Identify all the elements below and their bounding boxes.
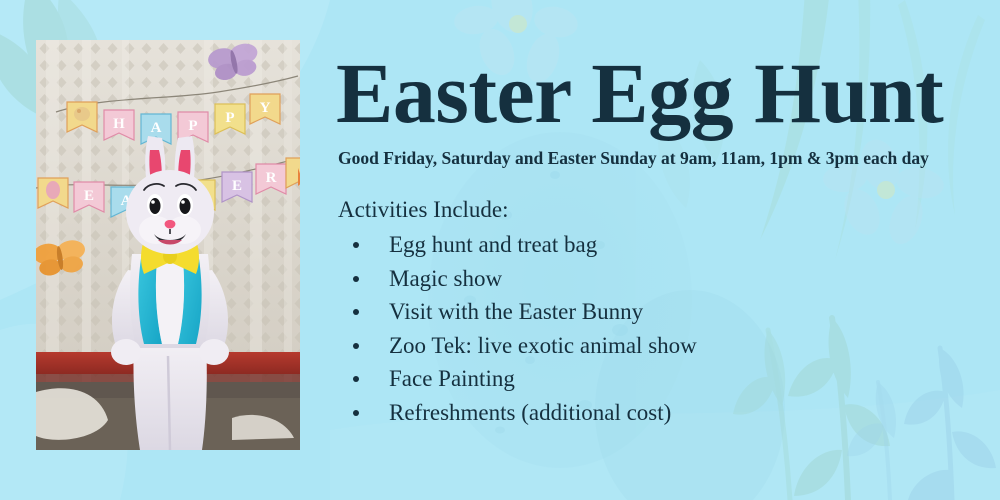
list-item: Zoo Tek: live exotic animal show [352, 329, 697, 363]
list-item: Face Painting [352, 362, 697, 396]
event-schedule-subtitle: Good Friday, Saturday and Easter Sunday … [338, 148, 929, 169]
easter-egg-hunt-banner: H A P P Y E A S T E R [0, 0, 1000, 500]
activities-list: Egg hunt and treat bag Magic show Visit … [352, 228, 697, 429]
list-item: Visit with the Easter Bunny [352, 295, 697, 329]
svg-text:R: R [266, 170, 277, 186]
list-item: Magic show [352, 262, 697, 296]
svg-text:P: P [225, 110, 234, 126]
page-title: Easter Egg Hunt [336, 50, 943, 136]
activities-heading: Activities Include: [338, 197, 509, 223]
svg-text:E: E [84, 188, 94, 204]
svg-text:P: P [188, 118, 197, 134]
svg-text:E: E [232, 178, 242, 194]
list-item: Refreshments (additional cost) [352, 396, 697, 430]
svg-text:H: H [113, 116, 125, 132]
list-item: Egg hunt and treat bag [352, 228, 697, 262]
svg-text:Y: Y [260, 100, 271, 116]
banner-content: Easter Egg Hunt Good Friday, Saturday an… [336, 0, 984, 500]
svg-text:A: A [151, 120, 162, 136]
easter-bunny-photo: H A P P Y E A S T E R [36, 40, 300, 450]
